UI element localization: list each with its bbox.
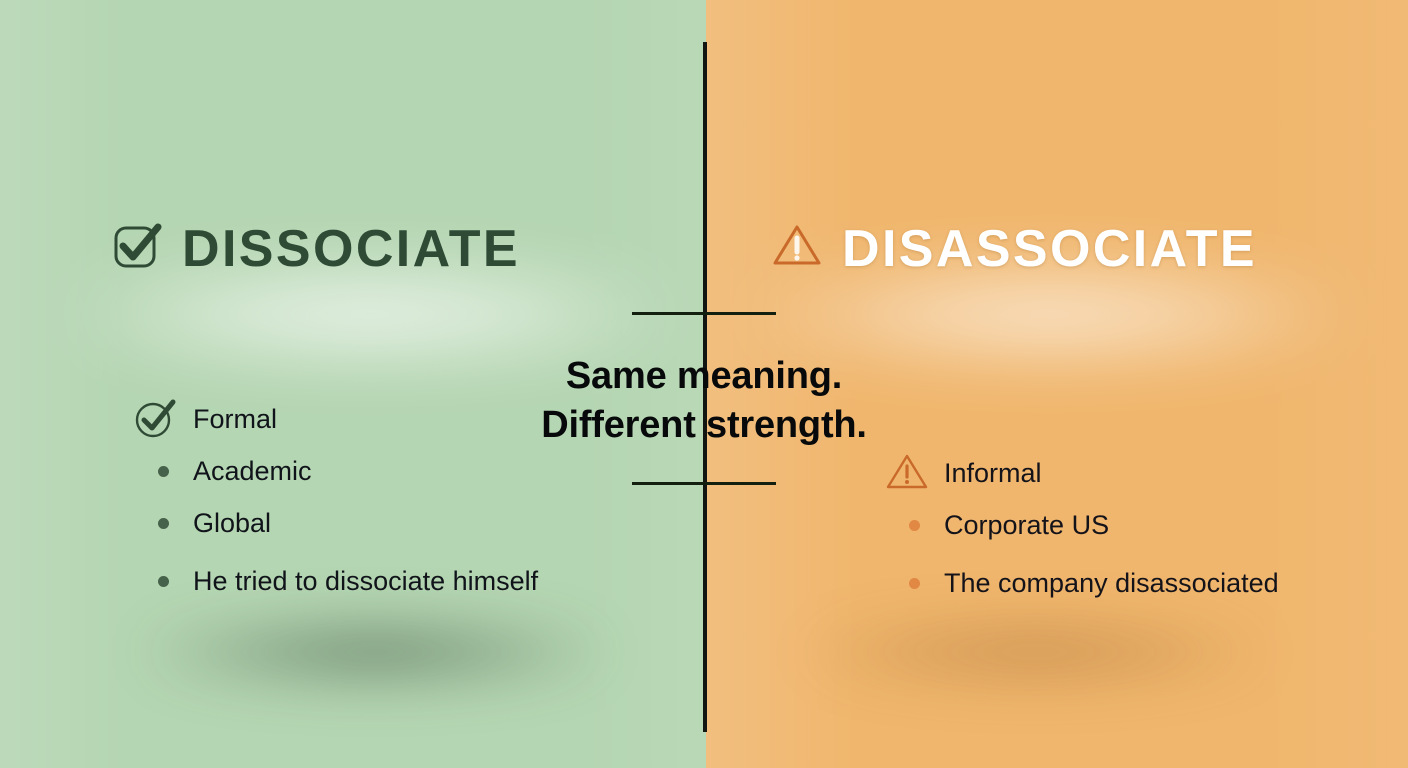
list-item-label: The company disassociated [944, 570, 1279, 597]
list-item-label: Global [193, 510, 271, 537]
bullet-dot-icon [884, 520, 944, 531]
list-item-label: He tried to dissociate himself [193, 568, 538, 595]
list-item: Corporate US [884, 499, 1279, 551]
center-rule-top [632, 312, 776, 315]
list-item: Academic [133, 445, 538, 497]
bullet-dot-icon [133, 466, 193, 477]
right-feature-list: Informal Corporate US The company disass… [884, 447, 1279, 609]
list-item: He tried to dissociate himself [133, 555, 538, 607]
bullet-dot-icon [133, 576, 193, 587]
bullet-dot-icon [884, 578, 944, 589]
list-item: The company disassociated [884, 557, 1279, 609]
check-square-icon [110, 219, 164, 278]
list-item-label: Formal [193, 406, 277, 433]
right-heading: DISASSOCIATE [770, 219, 1257, 278]
list-item: Formal [133, 393, 538, 445]
list-item-label: Corporate US [944, 512, 1109, 539]
list-item-label: Academic [193, 458, 312, 485]
left-heading-title: DISSOCIATE [182, 223, 520, 275]
list-item: Global [133, 497, 538, 549]
comparison-graphic: DISSOCIATE DISASSOCIATE Same meaning. Di… [0, 0, 1408, 768]
warning-triangle-icon [884, 450, 944, 496]
list-item-label: Informal [944, 460, 1042, 487]
left-feature-list: Formal Academic Global He tried to disso… [133, 393, 538, 607]
warning-triangle-icon [770, 219, 824, 278]
bullet-dot-icon [133, 518, 193, 529]
left-heading: DISSOCIATE [110, 219, 520, 278]
right-heading-title: DISASSOCIATE [842, 223, 1257, 275]
center-rule-bottom [632, 482, 776, 485]
list-item: Informal [884, 447, 1279, 499]
check-circle-icon [133, 397, 193, 441]
